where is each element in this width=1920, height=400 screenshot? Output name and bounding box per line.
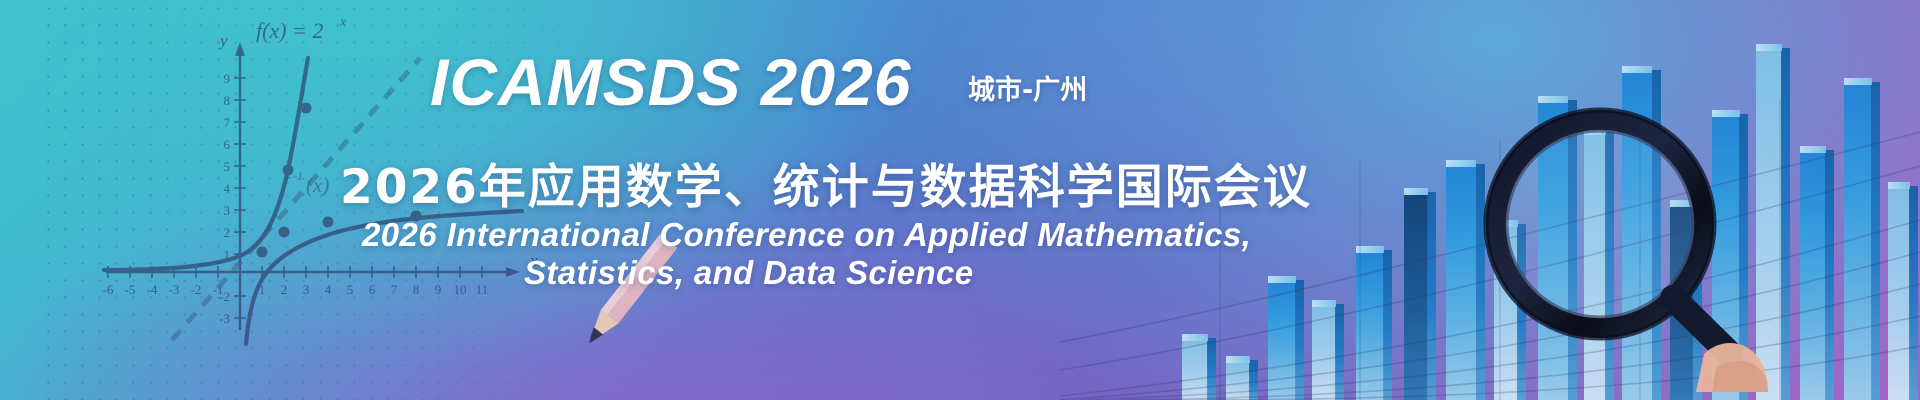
banner-text-block: ICAMSDS 2026 城市-广州 2026年应用数学、统计与数据科学国际会议… <box>0 0 1920 400</box>
english-subtitle-2: Statistics, and Data Science <box>524 254 974 292</box>
english-subtitle-1: 2026 International Conference on Applied… <box>362 216 1251 254</box>
page-title: ICAMSDS 2026 <box>430 44 912 120</box>
chinese-title: 2026年应用数学、统计与数据科学国际会议 <box>340 148 1312 217</box>
city-label: 城市-广州 <box>968 68 1087 107</box>
conference-banner: 98 76 54 32 1 -2-3 -6-5 -4- <box>0 0 1920 400</box>
